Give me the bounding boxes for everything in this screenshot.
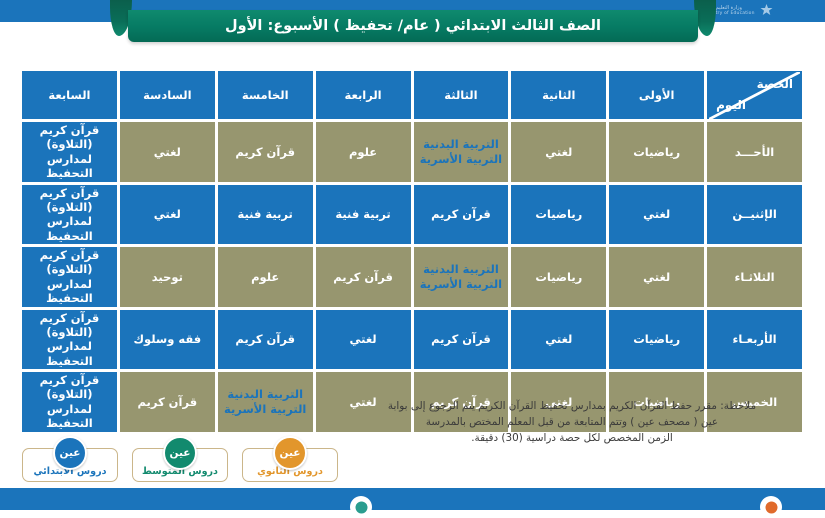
day-cell: الثلاثـاء	[707, 247, 802, 307]
subject-cell: لغتي	[511, 122, 606, 182]
column-header-period-6: السادسة	[120, 71, 215, 119]
subject-cell: تربية فنية	[316, 185, 411, 245]
subject-line-1: قرآن كريم (التلاوة)	[24, 248, 115, 277]
subject-cell: التربية البدنيةالتربية الأسرية	[414, 122, 509, 182]
ien-badge-icon: عين	[163, 436, 197, 470]
note-line-3: الزمن المخصص لكل حصة دراسية (30) دقيقة.	[337, 430, 807, 446]
subject-cell: لغتي	[609, 247, 704, 307]
subject-cell: رياضيات	[511, 247, 606, 307]
table-row: الإثنيــنلغتيرياضياتقرآن كريمتربية فنيةت…	[22, 185, 802, 245]
subject-cell: قرآن كريم	[414, 185, 509, 245]
subject-line-1: قرآن كريم (التلاوة)	[24, 123, 115, 152]
subject-cell: قرآن كريم	[218, 310, 313, 370]
subject-cell: علوم	[218, 247, 313, 307]
corner-header-cell: الحصة اليوم	[707, 71, 802, 119]
banner-area: الصف الثالث الابتدائي ( عام/ تحفيظ ) الأ…	[0, 0, 825, 52]
subject-cell: التربية البدنيةالتربية الأسرية	[414, 247, 509, 307]
table-header-row: الحصة اليوم الأولى الثانية الثالثة الراب…	[22, 71, 802, 119]
table-row: الثلاثـاءلغتيرياضياتالتربية البدنيةالترب…	[22, 247, 802, 307]
subject-cell: قرآن كريم (التلاوة)لمدارس التحفيظ	[22, 122, 117, 182]
period-axis-label: الحصة	[757, 77, 793, 92]
day-cell: الإثنيــن	[707, 185, 802, 245]
ien-badge[interactable]: عيندروس المتوسط	[132, 448, 228, 482]
subject-cell: قرآن كريم (التلاوة)لمدارس التحفيظ	[22, 310, 117, 370]
subject-cell: لغتي	[316, 310, 411, 370]
column-header-period-7: السابعة	[22, 71, 117, 119]
subject-cell: رياضيات	[609, 122, 704, 182]
day-cell: الأحـــد	[707, 122, 802, 182]
subject-cell: التربية البدنيةالتربية الأسرية	[218, 372, 313, 432]
subject-cell: لغتي	[120, 185, 215, 245]
ien-badge-icon: عين	[273, 436, 307, 470]
bottom-bar	[0, 488, 825, 510]
subject-line-1: قرآن كريم (التلاوة)	[24, 311, 115, 340]
table-row: الأحـــدرياضياتلغتيالتربية البدنيةالتربي…	[22, 122, 802, 182]
ien-badge[interactable]: عيندروس الابتدائي	[22, 448, 118, 482]
column-header-period-2: الثانية	[511, 71, 606, 119]
subject-cell: فقه وسلوك	[120, 310, 215, 370]
note-line-1: ملاحظة: مقرر حفظ القرآن الكريم بمدارس تح…	[337, 398, 807, 414]
weekly-schedule-table: الحصة اليوم الأولى الثانية الثالثة الراب…	[19, 68, 805, 435]
subject-cell: قرآن كريم (التلاوة)لمدارس التحفيظ	[22, 185, 117, 245]
column-header-period-4: الرابعة	[316, 71, 411, 119]
green-circle-icon	[350, 496, 372, 518]
subject-cell: قرآن كريم (التلاوة)لمدارس التحفيظ	[22, 372, 117, 432]
subject-cell: رياضيات	[609, 310, 704, 370]
subject-line-2: لمدارس التحفيظ	[24, 277, 115, 306]
schedule-note: ملاحظة: مقرر حفظ القرآن الكريم بمدارس تح…	[337, 398, 807, 446]
ien-badge[interactable]: عيندروس الثانوي	[242, 448, 338, 482]
ien-badge-icon: عين	[53, 436, 87, 470]
subject-cell: لغتي	[120, 122, 215, 182]
subject-line-2: لمدارس التحفيظ	[24, 152, 115, 181]
subject-cell: قرآن كريم	[218, 122, 313, 182]
day-cell: الأربعـاء	[707, 310, 802, 370]
subject-cell: قرآن كريم (التلاوة)لمدارس التحفيظ	[22, 247, 117, 307]
subject-cell: لغتي	[511, 310, 606, 370]
subject-line-2: لمدارس التحفيظ	[24, 402, 115, 431]
schedule-body: الأحـــدرياضياتلغتيالتربية البدنيةالتربي…	[22, 122, 802, 432]
table-row: الأربعـاءرياضياتلغتيقرآن كريملغتيقرآن كر…	[22, 310, 802, 370]
subject-line-2: لمدارس التحفيظ	[24, 339, 115, 368]
schedule-table-area: الحصة اليوم الأولى الثانية الثالثة الراب…	[19, 68, 805, 435]
subject-cell: توحيد	[120, 247, 215, 307]
subject-cell: علوم	[316, 122, 411, 182]
subject-cell: تربية فنية	[218, 185, 313, 245]
subject-line-2: لمدارس التحفيظ	[24, 214, 115, 243]
note-line-2: عين ( مصحف عين ) وتتم المتابعة من قبل ال…	[337, 414, 807, 430]
column-header-period-3: الثالثة	[414, 71, 509, 119]
subject-line-1: التربية البدنية	[416, 137, 507, 151]
subject-line-2: التربية الأسرية	[416, 277, 507, 291]
subject-cell: قرآن كريم	[316, 247, 411, 307]
subject-cell: قرآن كريم	[414, 310, 509, 370]
day-axis-label: اليوم	[716, 98, 746, 113]
subject-cell: قرآن كريم	[120, 372, 215, 432]
subject-cell: رياضيات	[511, 185, 606, 245]
subject-line-1: قرآن كريم (التلاوة)	[24, 373, 115, 402]
subject-line-2: التربية الأسرية	[220, 402, 311, 416]
page-title-banner: الصف الثالث الابتدائي ( عام/ تحفيظ ) الأ…	[128, 10, 698, 42]
subject-line-1: قرآن كريم (التلاوة)	[24, 186, 115, 215]
subject-line-2: التربية الأسرية	[416, 152, 507, 166]
column-header-period-1: الأولى	[609, 71, 704, 119]
subject-line-1: التربية البدنية	[416, 262, 507, 276]
column-header-period-5: الخامسة	[218, 71, 313, 119]
subject-line-1: التربية البدنية	[220, 387, 311, 401]
ien-badges: عيندروس الابتدائيعيندروس المتوسطعيندروس …	[22, 448, 338, 482]
page-title: الصف الثالث الابتدائي ( عام/ تحفيظ ) الأ…	[225, 18, 601, 34]
subject-cell: لغتي	[609, 185, 704, 245]
orange-circle-icon	[760, 496, 782, 518]
